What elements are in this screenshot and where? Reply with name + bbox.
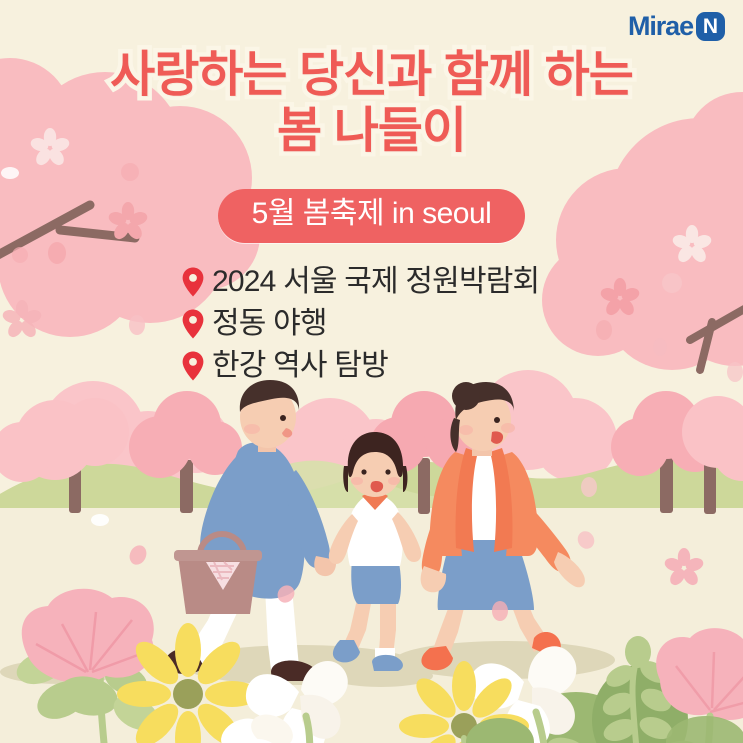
location-label: 정동 야행	[212, 304, 327, 343]
map-pin-icon	[182, 267, 204, 297]
page-title: 사랑하는 당신과 함께 하는 봄 나들이	[0, 48, 743, 160]
brand-wordmark: Mirae	[628, 13, 693, 40]
spring-festival-poster: Mirae N 사랑하는 당신과 함께 하는 봄 나들이 5월 봄축제 in s…	[0, 0, 743, 743]
location-label: 한강 역사 탐방	[212, 346, 388, 385]
festival-badge: 5월 봄축제 in seoul	[218, 189, 526, 243]
mirae-n-logo-icon: N	[696, 12, 725, 41]
headline-line-1: 사랑하는 당신과 함께 하는	[0, 48, 743, 104]
headline-line-2: 봄 나들이	[0, 104, 743, 160]
location-list: 2024 서울 국제 정원박람회 정동 야행 한강 역사 탐방	[182, 262, 539, 385]
list-item: 정동 야행	[182, 304, 539, 343]
brand-logo[interactable]: Mirae N	[628, 12, 725, 41]
list-item: 한강 역사 탐방	[182, 346, 539, 385]
map-pin-icon	[182, 351, 204, 381]
badge-container: 5월 봄축제 in seoul	[0, 189, 743, 243]
map-pin-icon	[182, 309, 204, 339]
list-item: 2024 서울 국제 정원박람회	[182, 262, 539, 301]
location-label: 2024 서울 국제 정원박람회	[212, 262, 539, 301]
